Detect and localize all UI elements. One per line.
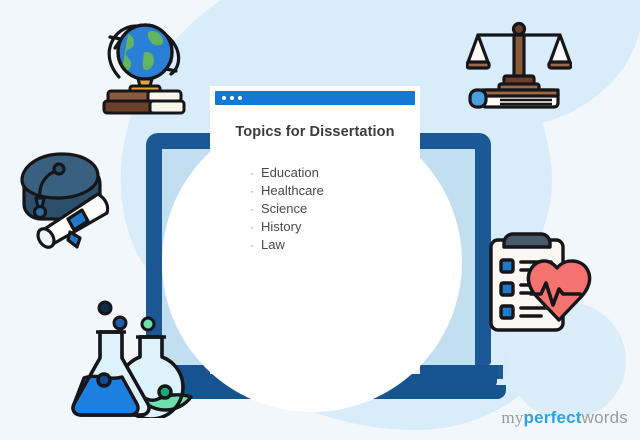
page-title: Topics for Dissertation <box>210 124 420 140</box>
card-content: Topics for Dissertation · Education · He… <box>210 86 420 374</box>
list-item-label: Science <box>261 200 307 218</box>
list-item: · Education <box>250 164 324 182</box>
brand-logo: myperfectwords <box>501 408 628 428</box>
medical-clipboard-heart-icon <box>487 228 597 339</box>
logo-word-words: words <box>582 408 628 427</box>
illustration-canvas: Topics for Dissertation · Education · He… <box>0 0 640 440</box>
bullet-icon: · <box>250 200 261 218</box>
bullet-icon: · <box>250 236 261 254</box>
list-item-label: History <box>261 218 301 236</box>
list-item: · Science <box>250 200 324 218</box>
list-item: · Healthcare <box>250 182 324 200</box>
list-item-label: Law <box>261 236 285 254</box>
bullet-icon: · <box>250 164 261 182</box>
list-item: · History <box>250 218 324 236</box>
scales-of-justice-on-book-icon <box>466 18 572 119</box>
list-item-label: Healthcare <box>261 182 324 200</box>
logo-word-my: my <box>501 408 523 427</box>
logo-word-perfect: perfect <box>524 408 582 427</box>
browser-window-card: Topics for Dissertation · Education · He… <box>210 86 420 374</box>
globe-on-books-icon <box>88 14 198 123</box>
bullet-icon: · <box>250 218 261 236</box>
bullet-icon: · <box>250 182 261 200</box>
topics-list: · Education · Healthcare · Science · His… <box>250 164 324 254</box>
science-flasks-icon <box>64 290 194 423</box>
graduation-cap-and-diploma-icon <box>6 140 124 255</box>
list-item-label: Education <box>261 164 319 182</box>
list-item: · Law <box>250 236 324 254</box>
